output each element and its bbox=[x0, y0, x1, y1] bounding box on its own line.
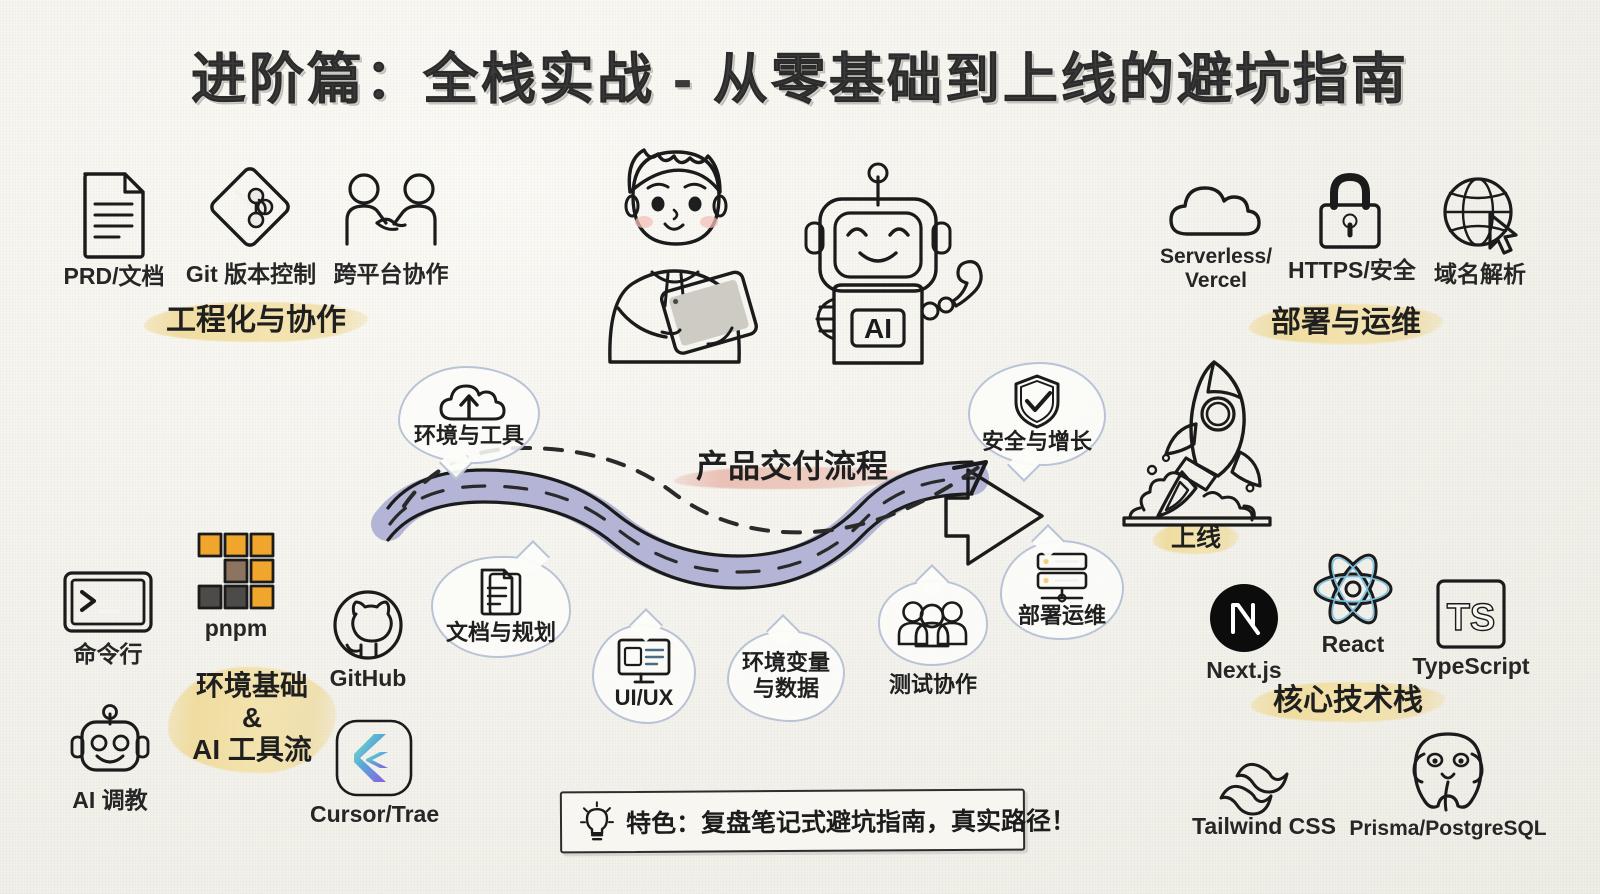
document-stack-icon bbox=[476, 568, 526, 620]
github-icon bbox=[320, 588, 416, 662]
tile-label: 跨平台协作 bbox=[326, 261, 456, 287]
tile-command-line[interactable]: 命令行 bbox=[56, 570, 160, 667]
people-icon bbox=[896, 599, 970, 647]
tile-cross-platform[interactable]: 跨平台协作 bbox=[326, 172, 456, 287]
bubble-env-tools[interactable]: 环境与工具 bbox=[398, 366, 540, 464]
bubble-label: 部署运维 bbox=[1018, 603, 1106, 629]
group-heading-deploy: 部署与运维 bbox=[1253, 302, 1439, 345]
shield-check-icon bbox=[1011, 373, 1063, 429]
tile-nextjs[interactable]: Next.js bbox=[1194, 582, 1294, 683]
env-ai-line-3: AI 工具流 bbox=[192, 734, 312, 765]
bubble-label: 测试协作 bbox=[889, 672, 977, 698]
react-icon bbox=[1306, 550, 1400, 628]
svg-text:AI: AI bbox=[864, 313, 892, 344]
tile-prisma-postgresql[interactable]: Prisma/PostgreSQL bbox=[1348, 730, 1548, 841]
lock-icon bbox=[1288, 166, 1412, 254]
nextjs-icon bbox=[1194, 582, 1294, 654]
launch-milestone: 上线 bbox=[1106, 348, 1286, 555]
terminal-icon bbox=[56, 570, 160, 638]
bubble-label: 环境变量 与数据 bbox=[742, 650, 830, 701]
bubble-security-growth[interactable]: 安全与增长 bbox=[968, 362, 1106, 466]
group-heading-stack: 核心技术栈 bbox=[1255, 680, 1441, 723]
handshake-icon bbox=[326, 172, 456, 258]
tailwind-icon bbox=[1192, 756, 1330, 810]
bubble-label: 文档与规划 bbox=[446, 620, 556, 646]
bubble-label: 环境与工具 bbox=[414, 423, 524, 449]
bubble-docs-planning[interactable]: 文档与规划 bbox=[431, 556, 571, 658]
developer-boy bbox=[580, 132, 770, 372]
tile-react[interactable]: React bbox=[1306, 550, 1400, 657]
rocket-icon bbox=[1106, 348, 1286, 524]
tile-prd-document[interactable]: PRD/文档 bbox=[56, 168, 172, 289]
tile-label: PRD/文档 bbox=[56, 263, 172, 289]
env-ai-line-2: & bbox=[242, 702, 262, 733]
tile-label: Prisma/PostgreSQL bbox=[1348, 817, 1548, 841]
env-ai-line-1: 环境基础 bbox=[196, 670, 308, 701]
tile-label: React bbox=[1306, 631, 1400, 657]
tile-label: HTTPS/安全 bbox=[1288, 257, 1412, 283]
bubble-label: 安全与增长 bbox=[982, 429, 1092, 455]
milestone-label: 上线 bbox=[1157, 522, 1235, 555]
postgresql-icon bbox=[1348, 730, 1548, 814]
tile-label: 命令行 bbox=[56, 641, 160, 667]
tile-domain-resolution[interactable]: 域名解析 bbox=[1420, 172, 1540, 287]
tile-typescript[interactable]: TS TypeScript bbox=[1410, 578, 1532, 679]
feature-note-text: 特色：复盘笔记式避坑指南，真实路径！ bbox=[626, 801, 1076, 840]
bubble-label: UI/UX bbox=[615, 685, 674, 711]
page-title: 进阶篇：全栈实战 - 从零基础到上线的避坑指南 bbox=[0, 34, 1600, 114]
feature-note: 特色：复盘笔记式避坑指南，真实路径！ bbox=[560, 789, 1025, 854]
ai-robot: AI bbox=[790, 165, 980, 370]
tile-label: Cursor/Trae bbox=[310, 801, 438, 827]
cloud-upload-icon bbox=[437, 381, 501, 423]
group-heading-env-ai: 环境基础 & AI 工具流 bbox=[162, 662, 342, 775]
bubble-env-vars-data[interactable]: 环境变量 与数据 bbox=[727, 630, 845, 722]
tile-label: Serverless/ Vercel bbox=[1148, 245, 1284, 293]
globe-cursor-icon bbox=[1420, 172, 1540, 258]
server-icon bbox=[1032, 551, 1092, 603]
tile-https-security[interactable]: HTTPS/安全 bbox=[1288, 166, 1412, 283]
tile-label: pnpm bbox=[186, 615, 286, 641]
pnpm-icon bbox=[186, 530, 286, 612]
tile-label: TypeScript bbox=[1410, 653, 1532, 679]
tile-label: 域名解析 bbox=[1420, 261, 1540, 287]
tile-label: AI 调教 bbox=[62, 787, 158, 813]
cloud-icon bbox=[1148, 178, 1284, 242]
bubble-ui-ux[interactable]: UI/UX bbox=[592, 624, 696, 724]
lightbulb-icon bbox=[580, 802, 614, 842]
robot-head-icon bbox=[62, 706, 158, 784]
tile-git[interactable]: Git 版本控制 bbox=[176, 170, 326, 287]
tile-serverless-vercel[interactable]: Serverless/ Vercel bbox=[1148, 178, 1284, 293]
svg-text:TS: TS bbox=[1447, 597, 1496, 639]
tile-ai-training[interactable]: AI 调教 bbox=[62, 706, 158, 813]
monitor-icon bbox=[615, 637, 673, 685]
tile-label: Git 版本控制 bbox=[176, 261, 326, 287]
bubble-test-collab[interactable]: 测试协作 bbox=[878, 580, 988, 666]
tile-tailwind[interactable]: Tailwind CSS bbox=[1192, 756, 1330, 839]
group-heading-engineering: 工程化与协作 bbox=[148, 300, 364, 343]
git-icon bbox=[176, 170, 326, 258]
typescript-icon: TS bbox=[1410, 578, 1532, 650]
bubble-deploy-ops[interactable]: 部署运维 bbox=[1000, 540, 1124, 640]
document-icon bbox=[56, 168, 172, 260]
tile-label: Tailwind CSS bbox=[1192, 813, 1330, 839]
tile-pnpm[interactable]: pnpm bbox=[186, 530, 286, 641]
flow-label: 产品交付流程 bbox=[678, 444, 906, 489]
